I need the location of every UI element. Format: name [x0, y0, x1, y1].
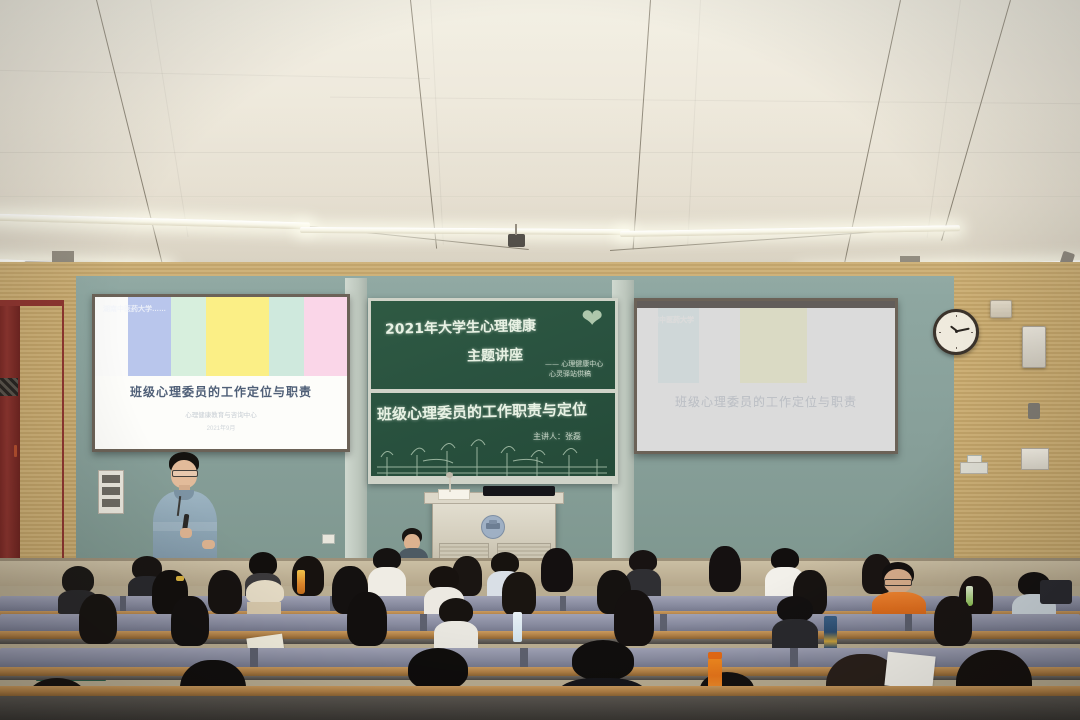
lecture-hall-photo: EPSON EPSON 湖南中医药大学…… — [0, 0, 1080, 720]
clock-center-pin — [955, 330, 958, 333]
slide-title: 班级心理委员的工作定位与职责 — [95, 383, 347, 400]
student-orange-polo — [872, 562, 926, 622]
student — [772, 596, 818, 650]
right-projection-screen: 湖南中医药大学 班级心理委员的工作定位与职责 — [634, 298, 898, 454]
slide-subtitle-2: 2021年9月 — [95, 423, 347, 432]
student — [538, 548, 576, 600]
lectern-monitor[interactable] — [483, 486, 555, 496]
blackboard-line-2: 主题讲座 — [467, 344, 523, 365]
band-3 — [171, 297, 206, 376]
slide-subtitle-1: 心理健康教育与咨询中心 — [95, 409, 347, 419]
wall-speaker-right — [1022, 326, 1046, 368]
switch-row-3[interactable] — [102, 499, 120, 507]
classroom-door[interactable] — [0, 306, 20, 568]
bag-dark-right — [1040, 580, 1072, 604]
presenter-hand — [180, 528, 192, 538]
band-5 — [269, 297, 304, 376]
student — [290, 556, 326, 600]
blackboard: ❤ 2021年大学生心理健康 主题讲座 —— 心理健康中心 心灵驿站供稿 班级心… — [368, 298, 618, 484]
slide-title: 班级心理委员的工作定位与职责 — [637, 393, 895, 410]
projector-mount-rod — [515, 224, 517, 235]
wall-panel-right[interactable] — [1021, 448, 1049, 470]
band-5 — [807, 308, 848, 383]
presenter-glasses — [172, 470, 198, 477]
student — [434, 598, 478, 650]
door-handle[interactable] — [14, 445, 17, 457]
chalk-heart-icon: ❤ — [581, 307, 603, 329]
light-switch-panel[interactable] — [98, 470, 124, 514]
glasses-icon — [884, 579, 912, 586]
band-4 — [740, 308, 807, 383]
door-window — [0, 378, 18, 396]
band-6 — [304, 297, 347, 376]
left-slide: 湖南中医药大学…… 班级心理委员的工作定位与职责 心理健康教育与咨询中心 202… — [95, 297, 347, 449]
band-4 — [206, 297, 269, 376]
student — [76, 594, 120, 648]
wood-wall-right — [954, 262, 1080, 582]
blackboard-attribution-1: —— 心理健康中心 — [545, 359, 603, 369]
hair-tie — [176, 576, 184, 581]
wall-outlet-center[interactable] — [322, 534, 335, 544]
student — [344, 592, 390, 650]
water-bottle-orange — [297, 570, 305, 594]
cap — [246, 580, 284, 604]
wood-wall-left-panel — [20, 306, 62, 568]
blackboard-line-1: 2021年大学生心理健康 — [385, 315, 536, 339]
clock-minute-hand — [956, 328, 969, 332]
lectern-paper — [438, 489, 470, 500]
desk-row-3 — [0, 614, 1080, 642]
presenter — [150, 452, 220, 570]
student — [930, 596, 976, 650]
water-bottle-clear — [513, 612, 522, 642]
chalk-tray — [371, 476, 615, 481]
presenter-hand-right — [202, 540, 215, 549]
blackboard-line-3: 班级心理委员的工作职责与定位 — [377, 398, 587, 424]
notebook-white — [884, 652, 935, 691]
wall-speaker-left — [990, 300, 1012, 318]
wall-clock — [933, 309, 979, 355]
blackboard-attribution-2: 心灵驿站供稿 — [549, 369, 591, 379]
university-crest-icon — [481, 515, 505, 539]
slide-corner-label: 湖南中医药大学 — [645, 315, 694, 325]
left-projection-screen: 湖南中医药大学…… 班级心理委员的工作定位与职责 心理健康教育与咨询中心 202… — [92, 294, 350, 452]
band-6 — [849, 308, 895, 383]
switch-row-2[interactable] — [102, 487, 120, 495]
blackboard-surface: ❤ 2021年大学生心理健康 主题讲座 —— 心理健康中心 心灵驿站供稿 班级心… — [371, 301, 615, 481]
switch-row-1[interactable] — [102, 475, 120, 483]
microphone-head — [446, 472, 453, 478]
chalk-fence-drawing — [373, 437, 611, 479]
gooseneck-microphone — [449, 476, 451, 492]
wall-camera-right[interactable] — [1028, 403, 1040, 419]
right-slide: 湖南中医药大学 班级心理委员的工作定位与职责 — [637, 301, 895, 451]
desk-row-1 — [0, 686, 1080, 720]
band-3 — [699, 308, 740, 383]
screen-roller-bar — [637, 301, 895, 308]
student — [168, 596, 212, 650]
wall-sign-right — [960, 462, 988, 474]
ceiling-projector-center — [508, 234, 525, 247]
blackboard-divider — [371, 389, 615, 393]
juice-bottle-cap — [708, 652, 722, 659]
slide-corner-label: 湖南中医药大学…… — [103, 304, 166, 314]
student — [706, 546, 744, 600]
